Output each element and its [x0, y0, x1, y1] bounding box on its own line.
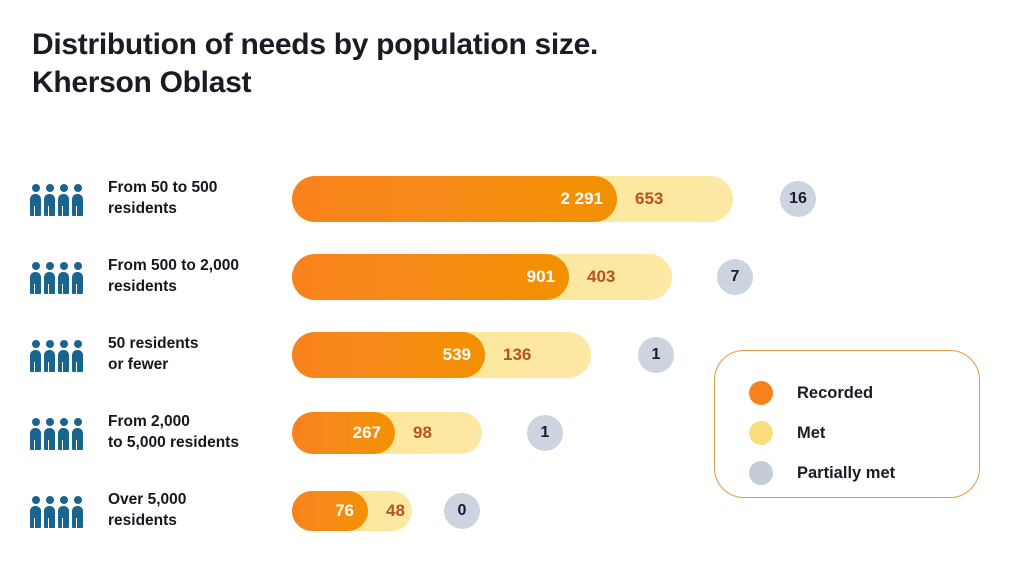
person-icon [72, 340, 83, 372]
legend-label: Met [797, 424, 825, 443]
category-label: From 2,000 to 5,000 residents [108, 412, 239, 454]
value-recorded: 2 291 [560, 189, 603, 209]
bar-group: 4876 [292, 491, 412, 531]
person-icon [58, 496, 69, 528]
bar-segment-recorded[interactable]: 539 [292, 332, 485, 378]
value-recorded: 539 [443, 345, 471, 365]
person-icon [30, 184, 41, 216]
status-badge-partially-met: 7 [717, 259, 753, 295]
people-group-icon [30, 338, 83, 372]
person-icon [44, 418, 55, 450]
category-label: From 50 to 500 residents [108, 178, 217, 220]
person-icon [44, 340, 55, 372]
person-icon [72, 418, 83, 450]
bar-group: 6532 291 [292, 176, 733, 222]
person-icon [58, 184, 69, 216]
legend-item[interactable]: Partially met [749, 453, 979, 493]
people-group-icon [30, 260, 83, 294]
bar-segment-met[interactable]: 403901 [292, 254, 672, 300]
category-label: Over 5,000 residents [108, 490, 186, 532]
value-recorded: 901 [527, 267, 555, 287]
people-group-icon [30, 182, 83, 216]
legend-dot-icon [749, 381, 773, 405]
value-met: 403 [587, 267, 615, 287]
bar-segment-met[interactable]: 6532 291 [292, 176, 733, 222]
status-badge-partially-met: 1 [527, 415, 563, 451]
bar-segment-recorded[interactable]: 2 291 [292, 176, 617, 222]
person-icon [58, 340, 69, 372]
legend-dot-icon [749, 461, 773, 485]
legend-label: Recorded [797, 384, 873, 403]
value-met: 98 [413, 423, 432, 443]
infographic-page: Distribution of needs by population size… [0, 0, 1024, 570]
person-icon [30, 418, 41, 450]
chart-row: From 50 to 500 residents6532 29116 [0, 160, 1024, 238]
chart-row: From 500 to 2,000 residents4039017 [0, 238, 1024, 316]
legend-item[interactable]: Recorded [749, 373, 979, 413]
value-met: 653 [635, 189, 663, 209]
person-icon [44, 262, 55, 294]
category-label: From 500 to 2,000 residents [108, 256, 239, 298]
bar-segment-met[interactable]: 4876 [292, 491, 412, 531]
chart-legend: RecordedMetPartially met [714, 350, 980, 498]
bar-segment-recorded[interactable]: 901 [292, 254, 569, 300]
category-label: 50 residents or fewer [108, 334, 198, 376]
value-recorded: 267 [353, 423, 381, 443]
person-icon [44, 496, 55, 528]
bar-group: 98267 [292, 412, 482, 454]
bar-segment-recorded[interactable]: 267 [292, 412, 395, 454]
bar-segment-met[interactable]: 136539 [292, 332, 591, 378]
status-badge-partially-met: 0 [444, 493, 480, 529]
page-title: Distribution of needs by population size… [32, 26, 598, 103]
status-badge-partially-met: 16 [780, 181, 816, 217]
bar-group: 136539 [292, 332, 591, 378]
value-met: 48 [386, 501, 405, 521]
status-badge-partially-met: 1 [638, 337, 674, 373]
person-icon [30, 340, 41, 372]
value-recorded: 76 [335, 501, 354, 521]
person-icon [30, 262, 41, 294]
person-icon [30, 496, 41, 528]
person-icon [44, 184, 55, 216]
person-icon [72, 184, 83, 216]
bar-segment-recorded[interactable]: 76 [292, 491, 368, 531]
legend-item[interactable]: Met [749, 413, 979, 453]
person-icon [72, 496, 83, 528]
bar-group: 403901 [292, 254, 672, 300]
person-icon [72, 262, 83, 294]
legend-dot-icon [749, 421, 773, 445]
people-group-icon [30, 494, 83, 528]
value-met: 136 [503, 345, 531, 365]
person-icon [58, 262, 69, 294]
people-group-icon [30, 416, 83, 450]
person-icon [58, 418, 69, 450]
legend-label: Partially met [797, 464, 895, 483]
bar-segment-met[interactable]: 98267 [292, 412, 482, 454]
